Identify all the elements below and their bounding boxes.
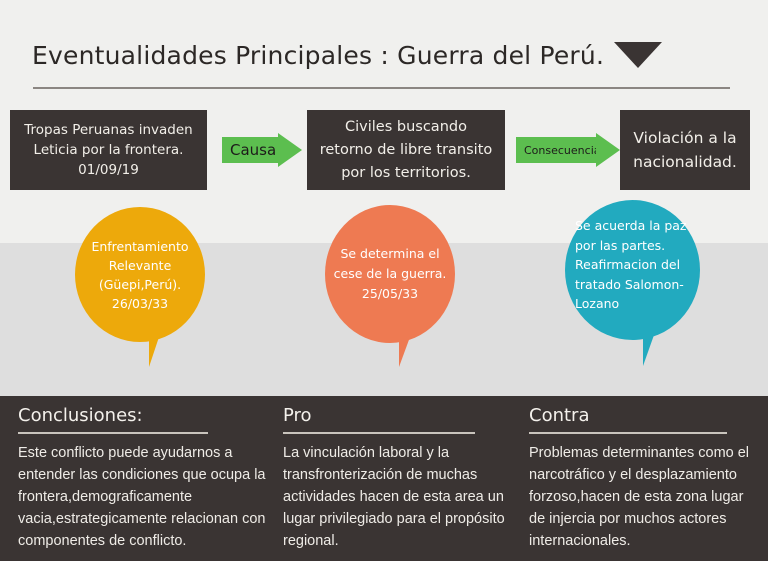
page-header: Eventualidades Principales : Guerra del … xyxy=(32,40,738,98)
speech-bubble-2: Se determina el cese de la guerra. 25/05… xyxy=(325,205,455,343)
column-conclusiones-title: Conclusiones: xyxy=(18,404,274,432)
column-contra-body: Problemas determinantes como el narcotrá… xyxy=(529,442,755,552)
column-pro: Pro La vinculación laboral y la transfro… xyxy=(283,404,519,552)
page-title: Eventualidades Principales : Guerra del … xyxy=(32,40,604,72)
header-divider xyxy=(33,87,730,89)
column-pro-body: La vinculación laboral y la transfronter… xyxy=(283,442,519,552)
speech-bubble-2-text: Se determina el cese de la guerra. 25/05… xyxy=(331,244,449,304)
column-conclusiones: Conclusiones: Este conflicto puede ayuda… xyxy=(18,404,274,552)
column-contra: Contra Problemas determinantes como el n… xyxy=(529,404,755,552)
column-conclusiones-divider xyxy=(18,432,208,434)
arrow-consecuencia-head-icon xyxy=(596,133,620,167)
arrow-consecuencia-label: Consecuencia xyxy=(524,144,600,157)
speech-bubble-1-text: Enfrentamiento Relevante (Güepi,Perú). 2… xyxy=(85,237,195,313)
event-box-2: Civiles buscando retorno de libre transi… xyxy=(307,110,505,190)
event-box-1: Tropas Peruanas invaden Leticia por la f… xyxy=(10,110,207,190)
speech-bubble-3-text: Se acuerda la paz por las partes. Reafir… xyxy=(575,216,696,314)
speech-bubble-1-body: Enfrentamiento Relevante (Güepi,Perú). 2… xyxy=(75,207,205,342)
arrow-causa-body: Causa xyxy=(222,137,278,163)
speech-bubble-3-body: Se acuerda la paz por las partes. Reafir… xyxy=(565,200,700,340)
arrow-causa-head-icon xyxy=(278,133,302,167)
column-contra-divider xyxy=(529,432,727,434)
column-pro-divider xyxy=(283,432,475,434)
event-box-3: Violación a la nacionalidad. xyxy=(620,110,750,190)
arrow-causa: Causa xyxy=(222,133,302,167)
speech-bubble-1: Enfrentamiento Relevante (Güepi,Perú). 2… xyxy=(75,207,205,342)
arrow-consecuencia-body: Consecuencia xyxy=(516,137,596,163)
column-pro-title: Pro xyxy=(283,404,519,432)
speech-bubble-2-body: Se determina el cese de la guerra. 25/05… xyxy=(325,205,455,343)
column-contra-title: Contra xyxy=(529,404,755,432)
speech-bubble-3: Se acuerda la paz por las partes. Reafir… xyxy=(565,200,700,340)
arrow-consecuencia: Consecuencia xyxy=(516,133,620,167)
column-conclusiones-body: Este conflicto puede ayudarnos a entende… xyxy=(18,442,274,552)
arrow-causa-label: Causa xyxy=(230,141,276,159)
triangle-down-icon xyxy=(614,42,662,68)
